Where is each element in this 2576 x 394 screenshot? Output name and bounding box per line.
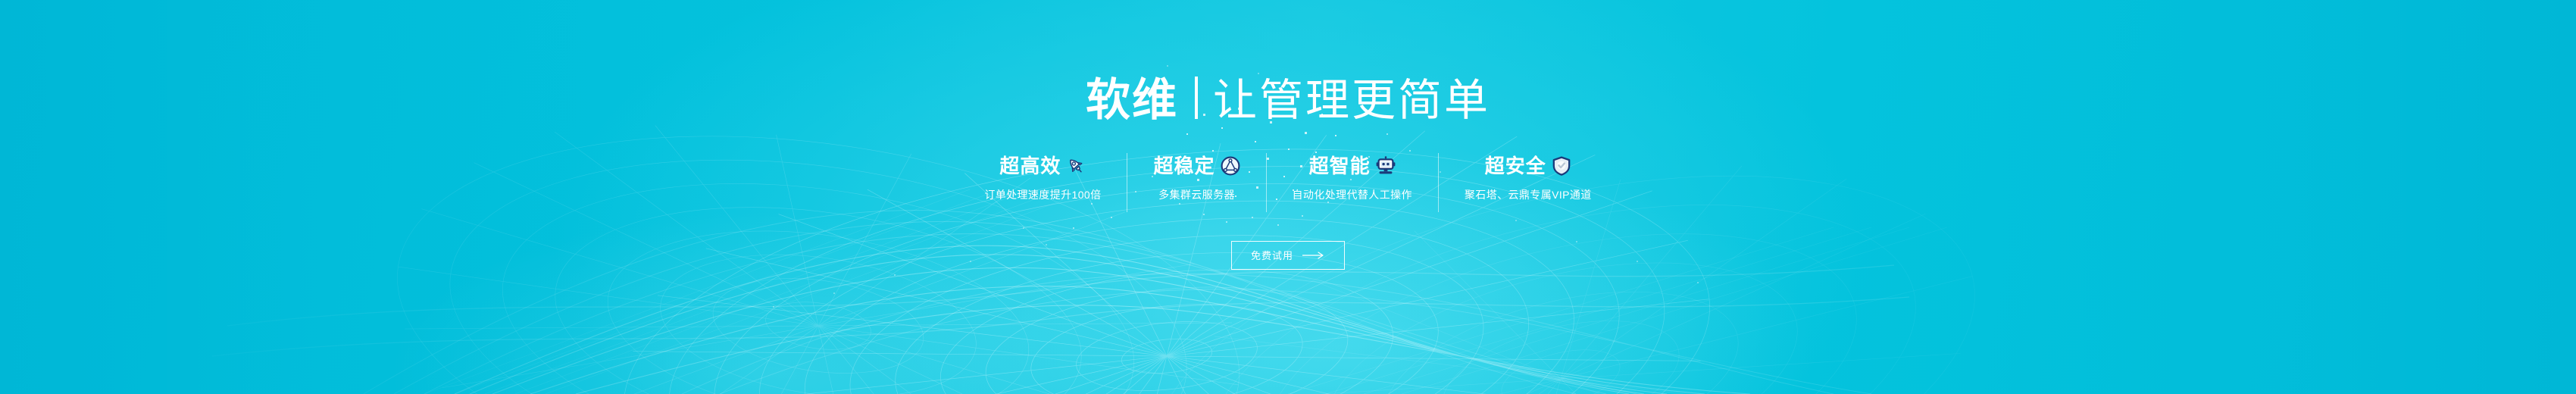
feature-list: 超高效	[961, 153, 1614, 212]
feature-subtitle: 自动化处理代替人工操作	[1293, 189, 1412, 200]
rocket-icon	[1066, 156, 1086, 176]
hero-banner: 软维 让管理更简单 超高效	[0, 0, 2576, 394]
feature-title: 超安全	[1485, 156, 1546, 176]
free-trial-label: 免费试用	[1251, 251, 1293, 261]
feature-divider	[1127, 153, 1127, 212]
feature-subtitle: 聚石塔、云鼎专属VIP通道	[1465, 189, 1592, 200]
feature-heading: 超智能	[1309, 153, 1396, 179]
arrow-right-icon	[1302, 252, 1325, 259]
shield-check-icon	[1552, 156, 1571, 176]
feature-heading: 超稳定	[1153, 153, 1240, 179]
feature-subtitle: 多集群云服务器	[1158, 189, 1235, 200]
feature-subtitle: 订单处理速度提升100倍	[984, 189, 1101, 200]
feature-item-intelligence: 超智能	[1270, 153, 1435, 212]
feature-heading: 超高效	[999, 153, 1086, 179]
feature-item-security: 超安全 聚石塔、云鼎专属VIP通道	[1442, 153, 1615, 212]
feature-item-efficiency: 超高效	[961, 153, 1124, 212]
brand-name: 软维	[1086, 78, 1178, 123]
banner-content: 软维 让管理更简单 超高效	[0, 0, 2576, 394]
headline-tagline: 让管理更简单	[1213, 79, 1490, 123]
feature-title: 超稳定	[1153, 156, 1215, 176]
feature-item-stability: 超稳定 多集群云服务器	[1130, 153, 1262, 212]
feature-heading: 超安全	[1485, 153, 1571, 179]
feature-title: 超高效	[999, 156, 1061, 176]
free-trial-button[interactable]: 免费试用	[1231, 241, 1345, 270]
robot-icon	[1376, 156, 1396, 176]
feature-title: 超智能	[1309, 156, 1371, 176]
cta-row: 免费试用	[0, 241, 2576, 270]
feature-divider	[1266, 153, 1267, 212]
headline: 软维 让管理更简单	[1086, 73, 1490, 123]
headline-separator	[1195, 77, 1198, 119]
network-circle-icon	[1221, 156, 1240, 176]
feature-divider	[1438, 153, 1439, 212]
